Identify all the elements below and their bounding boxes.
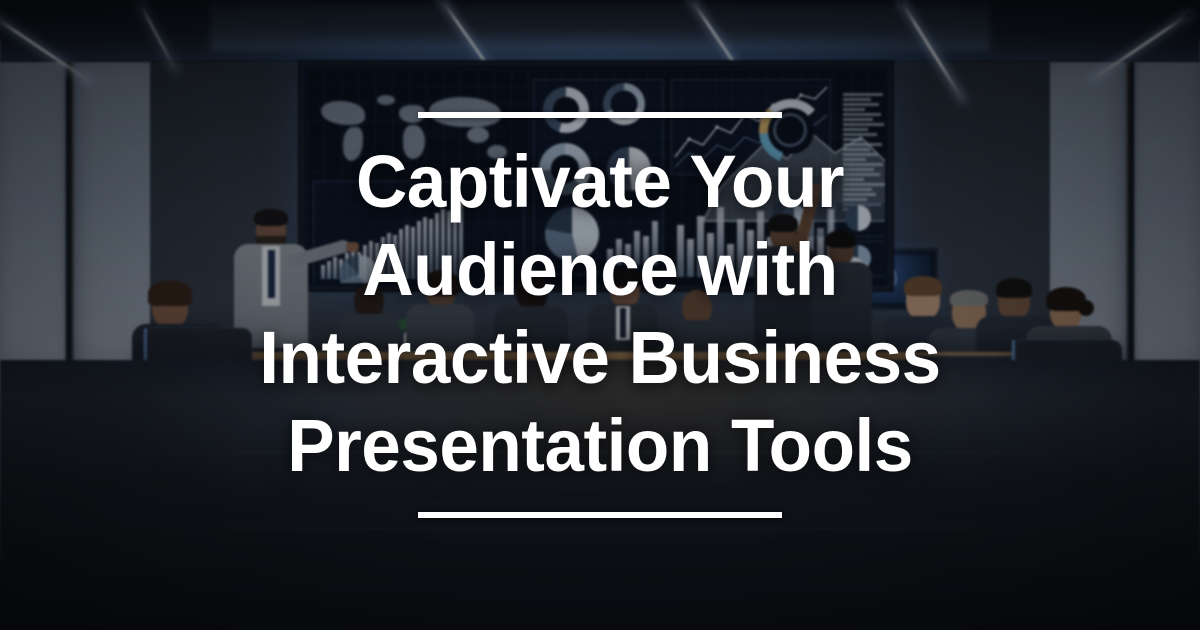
headline-overlay: Captivate Your Audience with Interactive…: [0, 0, 1200, 630]
banner-image: Captivate Your Audience with Interactive…: [0, 0, 1200, 630]
bottom-divider: [418, 512, 782, 518]
page-title: Captivate Your Audience with Interactive…: [235, 138, 965, 490]
top-divider: [418, 112, 782, 118]
